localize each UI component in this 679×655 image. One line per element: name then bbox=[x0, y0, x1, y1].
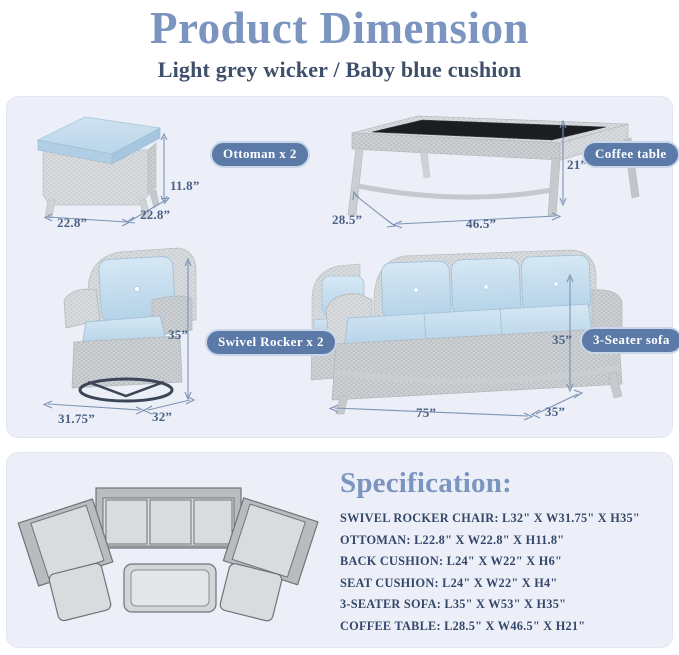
specification-line: BACK CUSHION: L24" X W22" X H6" bbox=[340, 551, 670, 573]
sofa-height-label: 35” bbox=[552, 332, 572, 348]
specification-line: COFFEE TABLE: L28.5" X W46.5" X H21" bbox=[340, 616, 670, 638]
sofa-width-label: 75” bbox=[416, 405, 436, 421]
badge-sofa: 3-Seater sofa bbox=[580, 327, 679, 354]
specification-line: SEAT CUSHION: L24" X W22" X H4" bbox=[340, 573, 670, 595]
ottoman-width-label: 22.8” bbox=[57, 215, 87, 231]
badge-coffee-table: Coffee table bbox=[582, 141, 679, 168]
swivel-depth-label: 32” bbox=[152, 409, 172, 425]
ottoman-depth-label: 22.8” bbox=[140, 207, 170, 223]
page-title: Product Dimension bbox=[0, 2, 679, 54]
specification-heading: Specification: bbox=[340, 466, 670, 500]
sofa-depth-label: 35” bbox=[545, 404, 565, 420]
ottoman-height-label: 11.8” bbox=[170, 178, 200, 194]
page-subtitle: Light grey wicker / Baby blue cushion bbox=[0, 56, 679, 84]
specification-line: SWIVEL ROCKER CHAIR: L32" X W31.75" X H3… bbox=[340, 508, 670, 530]
header: Product Dimension Light grey wicker / Ba… bbox=[0, 0, 679, 92]
specification-block: Specification: SWIVEL ROCKER CHAIR: L32"… bbox=[340, 466, 670, 637]
badge-swivel-rocker: Swivel Rocker x 2 bbox=[205, 329, 337, 356]
badge-ottoman: Ottoman x 2 bbox=[210, 141, 310, 168]
infographic-page: Product Dimension Light grey wicker / Ba… bbox=[0, 0, 679, 655]
coffee-table-depth-label: 28.5” bbox=[332, 212, 362, 228]
swivel-height-label: 35” bbox=[168, 327, 188, 343]
specification-line: 3-SEATER SOFA: L35" X W53" X H35" bbox=[340, 594, 670, 616]
specification-line: OTTOMAN: L22.8" X W22.8" X H11.8" bbox=[340, 530, 670, 552]
specification-list: SWIVEL ROCKER CHAIR: L32" X W31.75" X H3… bbox=[340, 508, 670, 637]
swivel-width-label: 31.75” bbox=[58, 411, 95, 427]
coffee-table-width-label: 46.5” bbox=[466, 216, 496, 232]
dimensions-panel bbox=[6, 96, 673, 438]
